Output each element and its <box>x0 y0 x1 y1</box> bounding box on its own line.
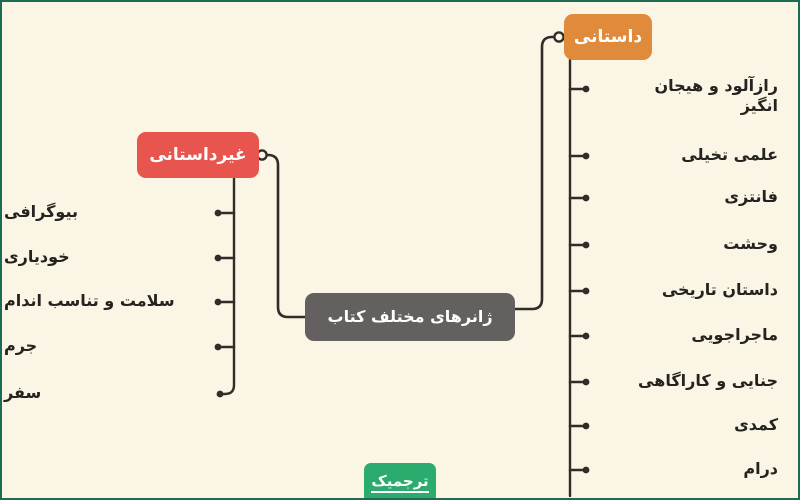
leaf-nonfiction-1[interactable]: بیوگرافی <box>0 202 220 222</box>
root-node[interactable]: ژانرهای مختلف کتاب <box>305 293 515 341</box>
branch-node-fiction[interactable]: داستانی <box>564 14 652 60</box>
leaf-fiction-1[interactable]: رازآلود و هیجان انگیز <box>590 76 790 115</box>
dot-fiction-6 <box>583 333 590 340</box>
anchor-fiction <box>554 32 563 41</box>
dot-fiction-9 <box>583 467 590 474</box>
branch-node-nonfiction[interactable]: غیرداستانی <box>137 132 259 178</box>
leaf-fiction-3[interactable]: فانتزی <box>590 187 790 207</box>
link-root-to-fiction <box>515 37 556 309</box>
leaf-fiction-4[interactable]: وحشت <box>590 234 790 254</box>
leaf-fiction-6[interactable]: ماجراجویی <box>590 325 790 345</box>
dot-fiction-5 <box>583 288 590 295</box>
root-node-label: ژانرهای مختلف کتاب <box>327 307 492 326</box>
dot-fiction-1 <box>583 86 590 93</box>
leaf-nonfiction-5[interactable]: سفر <box>0 383 220 403</box>
leaf-nonfiction-2[interactable]: خودیاری <box>0 247 220 267</box>
leaf-fiction-8[interactable]: کمدی <box>590 415 790 435</box>
link-root-to-nonfiction <box>265 155 305 317</box>
branch-node-fiction-label: داستانی <box>574 27 642 47</box>
dot-fiction-8 <box>583 423 590 430</box>
leaf-fiction-2[interactable]: علمی تخیلی <box>590 145 790 165</box>
spine-nonfiction <box>221 178 234 394</box>
dot-fiction-3 <box>583 195 590 202</box>
branch-node-nonfiction-label: غیرداستانی <box>149 145 246 165</box>
dot-fiction-7 <box>583 379 590 386</box>
dot-fiction-2 <box>583 153 590 160</box>
tarjomic-logo-label: ترجمیک <box>371 473 428 493</box>
mindmap-canvas: ژانرهای مختلف کتاب داستانی غیرداستانی را… <box>0 0 800 500</box>
leaf-fiction-5[interactable]: داستان تاریخی <box>590 280 790 300</box>
leaf-fiction-7[interactable]: جنایی و کاراگاهی <box>590 371 790 391</box>
leaf-nonfiction-4[interactable]: جرم <box>0 336 220 356</box>
dot-fiction-4 <box>583 242 590 249</box>
leaf-nonfiction-3[interactable]: سلامت و تناسب اندام <box>0 291 220 311</box>
leaf-fiction-9[interactable]: درام <box>590 459 790 479</box>
tarjomic-logo[interactable]: ترجمیک <box>364 463 436 500</box>
